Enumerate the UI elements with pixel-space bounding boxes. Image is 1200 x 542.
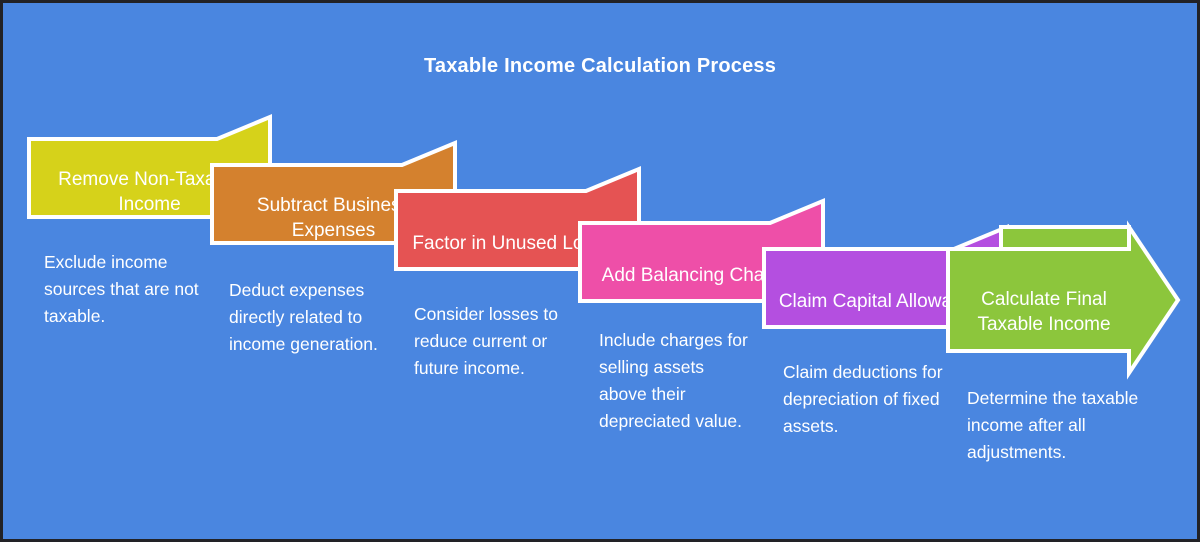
page-title: Taxable Income Calculation Process [3, 55, 1197, 78]
step-6-arrow-icon [946, 225, 1180, 375]
step-3-caption: Consider losses to reduce current or fut… [414, 301, 576, 382]
step-5-caption: Claim deductions for depreciation of fix… [783, 359, 943, 440]
step-6-caption: Determine the taxable income after all a… [967, 385, 1139, 466]
step-4-caption: Include charges for selling assets above… [599, 327, 754, 436]
process-step-6[interactable]: Calculate Final Taxable Income [946, 225, 1180, 375]
step-1-caption: Exclude income sources that are not taxa… [44, 249, 212, 330]
diagram-canvas: Taxable Income Calculation Process Remov… [0, 0, 1200, 542]
step-2-caption: Deduct expenses directly related to inco… [229, 277, 389, 358]
